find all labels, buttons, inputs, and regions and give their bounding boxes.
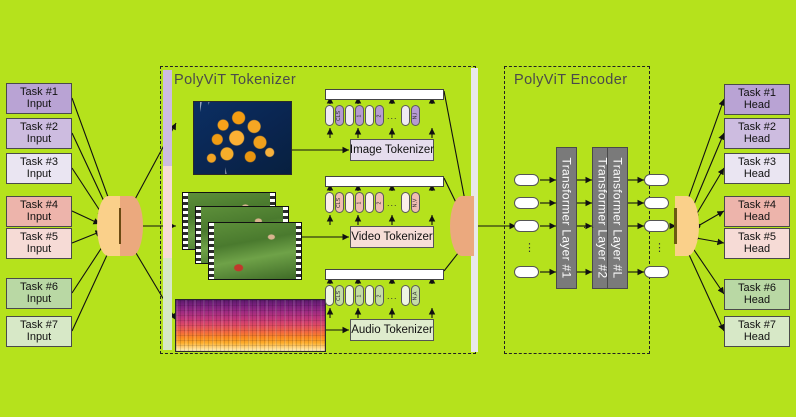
video-tokenizer-box[interactable]: Video Tokenizer [350, 226, 434, 248]
encoder-input-pill-n [514, 266, 539, 278]
transformer-layer-ellipsis: ... [583, 220, 595, 231]
encoder-output-pill-ellipsis: ⋮ [654, 243, 665, 254]
strip-video-band [163, 166, 172, 258]
audio-token-capsule-0a [325, 285, 334, 306]
task-head-4-sub: Head [744, 212, 770, 224]
video-token-capsule-cls: CLS [335, 192, 344, 213]
audio-token-capsule-2: 2 [375, 285, 384, 306]
task-input-7-title: Task #7 [20, 320, 58, 332]
video-frame-front [208, 222, 302, 280]
task-input-3-title: Task #3 [20, 157, 58, 169]
audio-token-capsule-na [401, 285, 410, 306]
task-input-1-title: Task #1 [20, 87, 58, 99]
task-input-3[interactable]: Task #3 Input [6, 153, 72, 184]
audio-token-capsule-1: 1 [355, 285, 364, 306]
task-head-5-title: Task #5 [738, 232, 776, 244]
image-token-capsule-1a [345, 105, 354, 126]
encoder-region-title: PolyViT Encoder [514, 72, 627, 88]
task-head-6[interactable]: Task #6 Head [724, 279, 790, 310]
task-input-7-sub: Input [27, 332, 51, 344]
image-token-capsule-na [401, 105, 410, 126]
head-split-divider [674, 208, 677, 244]
task-input-2-title: Task #2 [20, 122, 58, 134]
input-merge-right-half [120, 196, 143, 256]
task-input-5-title: Task #5 [20, 232, 58, 244]
task-head-1-title: Task #1 [738, 88, 776, 100]
strip-image-band [163, 70, 172, 166]
encoder-input-pill-3 [514, 220, 539, 232]
task-head-2-sub: Head [744, 134, 770, 146]
image-token-capsule-2: 2 [375, 105, 384, 126]
token-merge-node [450, 196, 474, 256]
task-head-2-title: Task #2 [738, 122, 776, 134]
task-head-7-title: Task #7 [738, 320, 776, 332]
task-input-2-sub: Input [27, 134, 51, 146]
input-merge-divider [119, 208, 121, 244]
video-token-capsule-1: 1 [355, 192, 364, 213]
audio-token-bar [325, 269, 444, 280]
encoder-output-pill-1 [644, 174, 669, 186]
head-split-half [675, 196, 699, 256]
video-token-capsule-n: N,V [411, 192, 420, 213]
image-token-capsule-cls: CLS [335, 105, 344, 126]
video-token-capsule-2: 2 [375, 192, 384, 213]
task-head-6-title: Task #6 [738, 283, 776, 295]
task-input-6-sub: Input [27, 294, 51, 306]
audio-token-capsule-n: N,A [411, 285, 420, 306]
image-token-bar [325, 89, 444, 100]
task-head-5[interactable]: Task #5 Head [724, 228, 790, 259]
task-head-4[interactable]: Task #4 Head [724, 196, 790, 227]
encoder-output-pill-n [644, 266, 669, 278]
audio-token-capsule-2a [365, 285, 374, 306]
task-input-4-sub: Input [27, 212, 51, 224]
image-token-capsule-0a [325, 105, 334, 126]
task-input-7[interactable]: Task #7 Input [6, 316, 72, 347]
image-token-ellipsis: ... [387, 111, 398, 121]
audio-token-ellipsis: ... [387, 291, 398, 301]
video-token-capsules: CLS 1 2 ... N,V [325, 192, 421, 213]
task-input-1[interactable]: Task #1 Input [6, 83, 72, 114]
task-input-4[interactable]: Task #4 Input [6, 196, 72, 227]
video-token-capsule-na [401, 192, 410, 213]
task-head-3[interactable]: Task #3 Head [724, 153, 790, 184]
task-input-3-sub: Input [27, 169, 51, 181]
task-head-1-sub: Head [744, 100, 770, 112]
task-input-6[interactable]: Task #6 Input [6, 278, 72, 309]
token-merge-half [450, 196, 474, 256]
task-head-5-sub: Head [744, 244, 770, 256]
task-head-7[interactable]: Task #7 Head [724, 316, 790, 347]
head-split-node [673, 196, 699, 256]
encoder-input-pill-2 [514, 197, 539, 209]
region-polyvit-encoder [504, 66, 650, 354]
input-merge-node [97, 196, 143, 256]
video-token-ellipsis: ... [387, 198, 398, 208]
task-input-2[interactable]: Task #2 Input [6, 118, 72, 149]
tokenizer-region-title: PolyViT Tokenizer [174, 72, 296, 88]
figure-canvas: Task #1 Input Task #2 Input Task #3 Inpu… [0, 0, 796, 417]
video-token-bar [325, 176, 444, 187]
audio-token-capsule-1a [345, 285, 354, 306]
encoder-output-pill-2 [644, 197, 669, 209]
image-token-capsule-n: N,I [411, 105, 420, 126]
task-head-3-title: Task #3 [738, 157, 776, 169]
task-input-1-sub: Input [27, 99, 51, 111]
transformer-layer-L[interactable]: Transformer Layer #L [607, 147, 628, 289]
video-thumbnail-stack [182, 192, 302, 282]
audio-token-capsule-cls: CLS [335, 285, 344, 306]
task-input-6-title: Task #6 [20, 282, 58, 294]
input-merge-left-half [97, 196, 120, 256]
task-input-5-sub: Input [27, 244, 51, 256]
task-head-3-sub: Head [744, 169, 770, 181]
audio-token-capsules: CLS 1 2 ... N,A [325, 285, 421, 306]
task-head-2[interactable]: Task #2 Head [724, 118, 790, 149]
task-head-6-sub: Head [744, 295, 770, 307]
video-token-capsule-0a [325, 192, 334, 213]
task-input-4-title: Task #4 [20, 200, 58, 212]
video-token-capsule-1a [345, 192, 354, 213]
image-tokenizer-box[interactable]: Image Tokenizer [350, 139, 434, 161]
image-token-capsule-1: 1 [355, 105, 364, 126]
task-head-7-sub: Head [744, 332, 770, 344]
strip-audio-band [163, 258, 172, 350]
audio-spectrogram [175, 299, 326, 352]
task-input-5[interactable]: Task #5 Input [6, 228, 72, 259]
audio-tokenizer-box[interactable]: Audio Tokenizer [350, 319, 434, 341]
encoder-output-pill-3 [644, 220, 669, 232]
task-head-4-title: Task #4 [738, 200, 776, 212]
image-thumbnail [193, 101, 292, 175]
image-token-capsules: CLS 1 2 ... N,I [325, 105, 421, 126]
transformer-layer-1[interactable]: Transformer Layer #1 [556, 147, 577, 289]
encoder-input-pill-1 [514, 174, 539, 186]
task-head-1[interactable]: Task #1 Head [724, 84, 790, 115]
image-token-capsule-2a [365, 105, 374, 126]
video-token-capsule-2a [365, 192, 374, 213]
encoder-input-pill-ellipsis: ⋮ [524, 243, 535, 254]
modality-color-strip [163, 70, 172, 350]
